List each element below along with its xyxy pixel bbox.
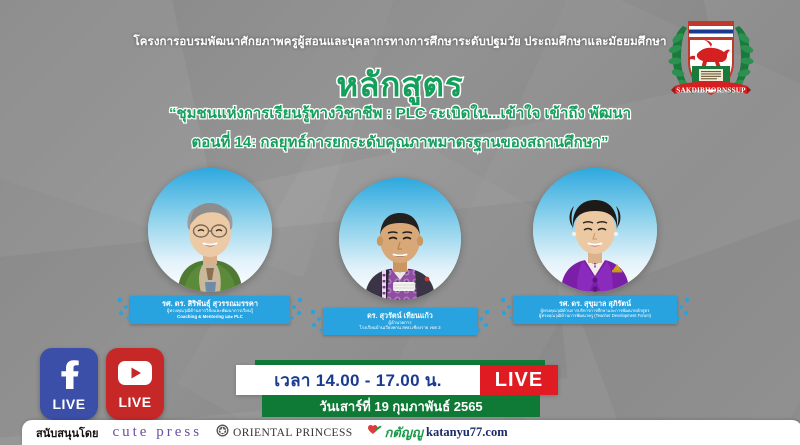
sponsor-oriental-princess: ORIENTAL PRINCESS bbox=[216, 424, 353, 442]
youtube-live-button[interactable]: LIVE bbox=[106, 348, 164, 420]
youtube-icon bbox=[117, 359, 153, 392]
speaker-photo-1 bbox=[148, 168, 272, 292]
speaker-name-1: รศ. ดร. สิริพันธุ์ สุวรรณมรรคา bbox=[130, 296, 290, 308]
speaker-portrait-1-illustration bbox=[148, 168, 272, 292]
youtube-live-label: LIVE bbox=[118, 394, 151, 410]
speaker-name-ribbon-1: รศ. ดร. สิริพันธุ์ สุวรรณมรรคา ผู้ทรงคุณ… bbox=[130, 296, 290, 324]
speaker-portrait-2-illustration bbox=[339, 178, 461, 300]
facebook-live-label: LIVE bbox=[52, 396, 85, 412]
sakdibhornssup-logo-icon: SAKDIBHORNSSUP bbox=[661, 6, 761, 110]
speaker-role-2b: โรงเรียนบ้านเวียงพาน สพป.เชียงราย เขต 3 bbox=[323, 325, 477, 330]
speaker-name-3: รศ. ดร. สุขุมาล สุภิรัตน์ bbox=[513, 296, 677, 308]
speaker-portrait-3-illustration bbox=[533, 168, 657, 292]
speaker-photo-2 bbox=[339, 178, 461, 300]
course-subtitle-line-2: ตอนที่ 14: กลยุทธ์การยกระดับคุณภาพมาตรฐา… bbox=[0, 130, 800, 154]
schedule-time-row: เวลา 14.00 - 17.00 น. LIVE bbox=[236, 365, 558, 395]
facebook-icon bbox=[54, 357, 84, 394]
speaker-photo-3 bbox=[533, 168, 657, 292]
katanyu-leaf-heart-icon bbox=[367, 423, 382, 442]
logo-banner-text: SAKDIBHORNSSUP bbox=[676, 87, 746, 95]
schedule-date-bar: วันเสาร์ที่ 19 กุมภาพันธ์ 2565 bbox=[262, 395, 540, 417]
speaker-name-ribbon-2: ดร. สุวรัตน์ เทียนแก้ว ผู้อำนวยการ โรงเร… bbox=[323, 308, 477, 335]
live-platform-buttons: LIVE LIVE bbox=[40, 348, 164, 420]
sponsor-oriental-princess-label: ORIENTAL PRINCESS bbox=[233, 427, 353, 439]
sponsor-katanyu-label: กตัญญู bbox=[385, 422, 423, 443]
speaker-name-ribbon-3: รศ. ดร. สุขุมาล สุภิรัตน์ ผู้ทรงคุณวุฒิด… bbox=[513, 296, 677, 324]
oriental-princess-icon bbox=[216, 424, 229, 442]
speaker-role-1b: Coaching & Mentoring และ PLC bbox=[130, 314, 290, 319]
speaker-name-2: ดร. สุวรัตน์ เทียนแก้ว bbox=[323, 308, 477, 320]
live-status-badge: LIVE bbox=[480, 365, 558, 395]
facebook-live-button[interactable]: LIVE bbox=[40, 348, 98, 420]
sponsor-katanyu-url[interactable]: katanyu77.com bbox=[426, 425, 508, 440]
sponsor-cute-press: cute press bbox=[112, 424, 202, 441]
sponsor-strip: สนับสนุนโดย cute press ORIENTAL PRINCESS… bbox=[22, 420, 800, 445]
schedule-time-text: เวลา 14.00 - 17.00 น. bbox=[236, 365, 480, 395]
speaker-role-3b: ผู้ทรงคุณวุฒิด้านการพัฒนาครู (Teacher De… bbox=[513, 313, 677, 318]
sponsor-katanyu: กตัญญู katanyu77.com bbox=[367, 422, 508, 443]
sponsor-prefix-label: สนับสนุนโดย bbox=[36, 424, 98, 442]
